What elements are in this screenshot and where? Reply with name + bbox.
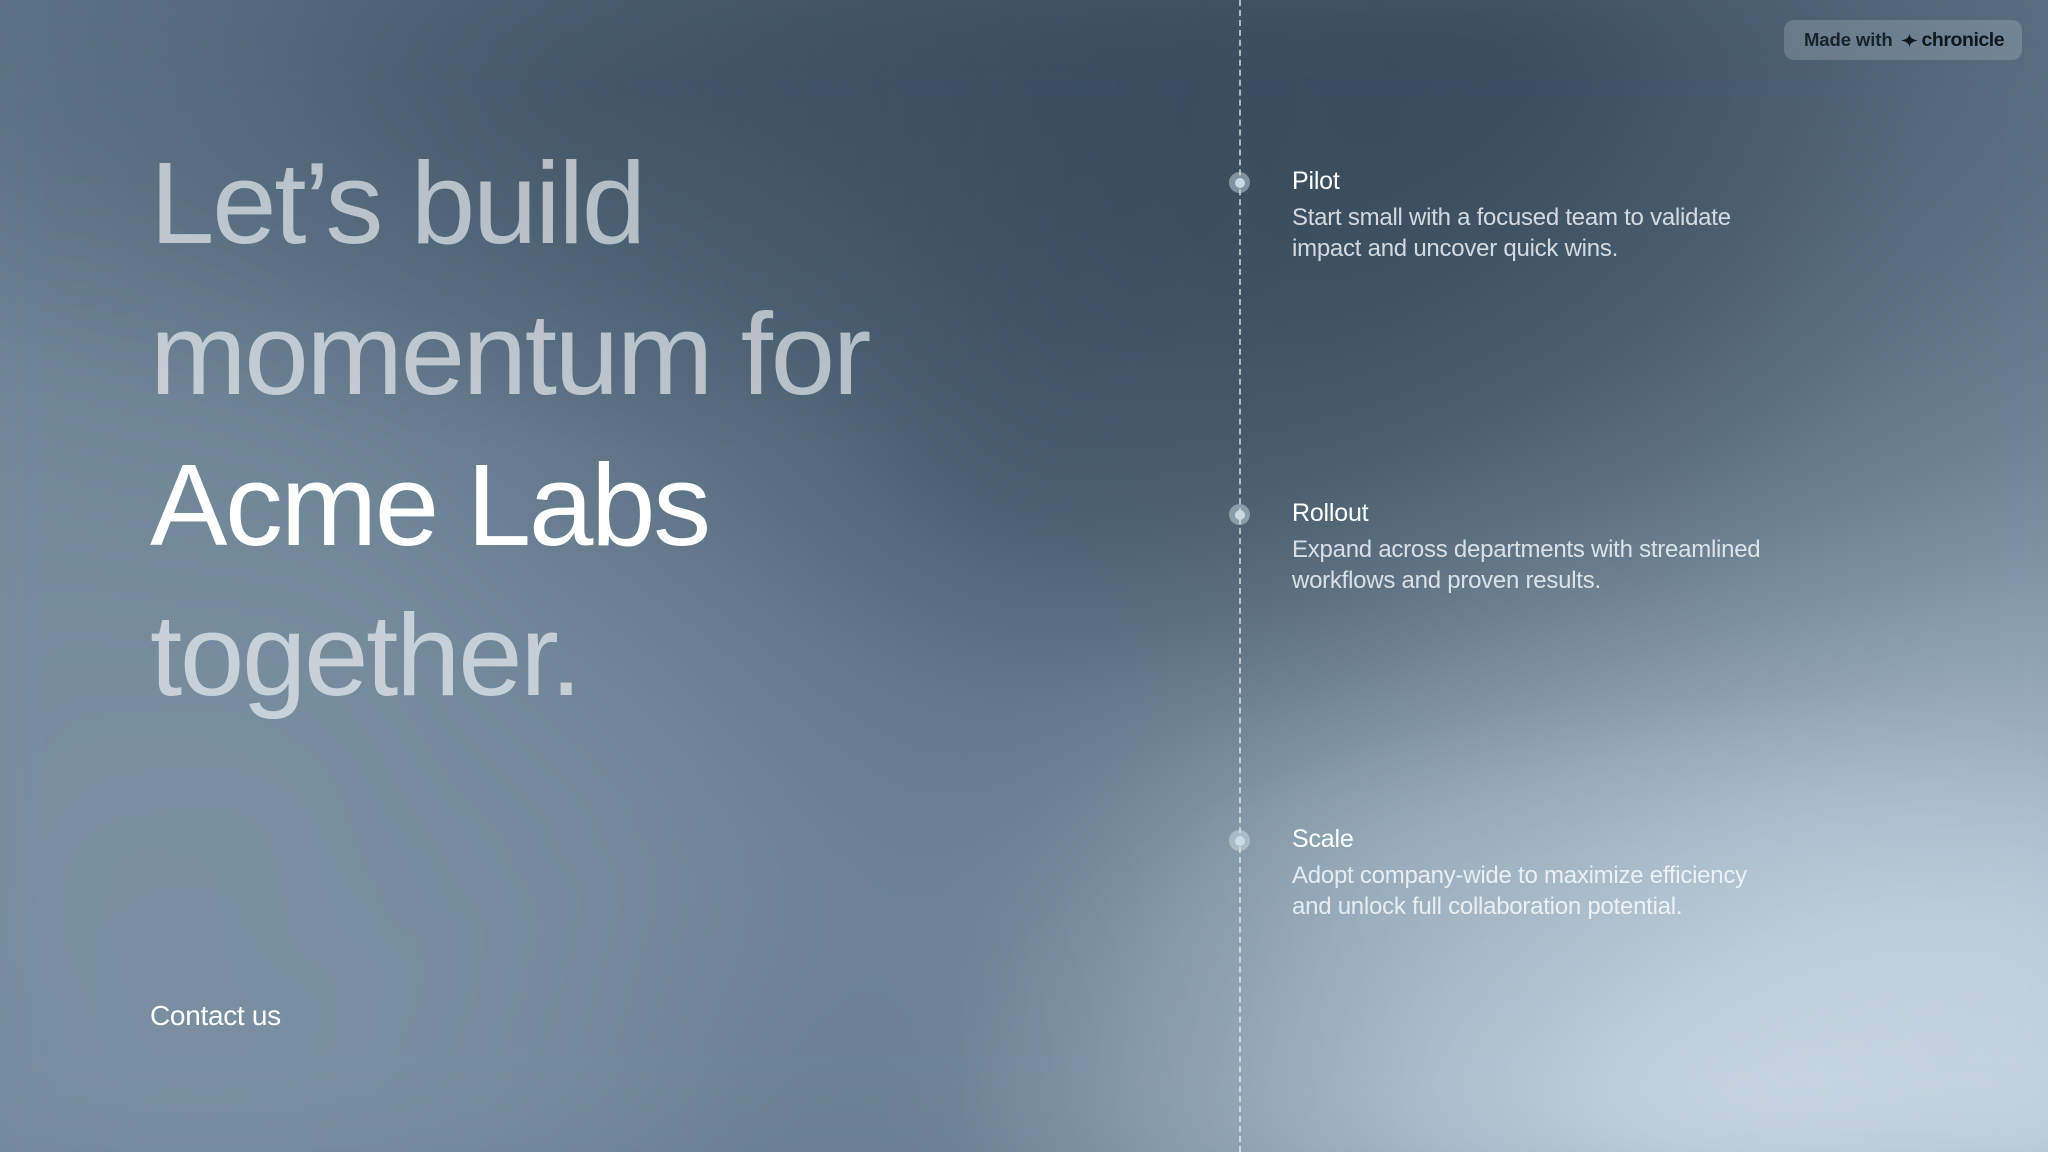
timeline-item-content: Scale Adopt company-wide to maximize eff…: [1292, 826, 1879, 923]
timeline-item-scale[interactable]: Scale Adopt company-wide to maximize eff…: [1239, 826, 1879, 923]
timeline-item-pilot[interactable]: Pilot Start small with a focused team to…: [1239, 168, 1879, 265]
page-title: Let’s build momentum for Acme Labs toget…: [150, 128, 869, 731]
timeline-item-content: Rollout Expand across departments with s…: [1292, 500, 1879, 597]
headline-line-3-emphasis: Acme Labs: [150, 430, 869, 581]
timeline-item-rollout[interactable]: Rollout Expand across departments with s…: [1239, 500, 1879, 597]
timeline-item-description: Expand across departments with streamlin…: [1292, 534, 1812, 598]
timeline-item-description: Adopt company-wide to maximize efficienc…: [1292, 860, 1772, 924]
timeline-marker-icon: [1229, 830, 1250, 851]
headline-line-2: momentum for: [150, 279, 869, 430]
headline-line-4: together.: [150, 580, 869, 731]
timeline: Pilot Start small with a focused team to…: [1239, 0, 2048, 1152]
chronicle-wordmark: chronicle: [1922, 29, 2005, 52]
timeline-item-content: Pilot Start small with a focused team to…: [1292, 168, 1879, 265]
badge-prefix-label: Made with: [1804, 29, 1893, 51]
timeline-marker-icon: [1229, 172, 1250, 193]
made-with-chronicle-badge[interactable]: Made with chronicle: [1784, 20, 2022, 60]
sparkle-icon: [1900, 31, 1919, 50]
timeline-item-title: Rollout: [1292, 500, 1879, 528]
timeline-marker-icon: [1229, 504, 1250, 525]
headline-line-1: Let’s build: [150, 128, 869, 279]
chronicle-logo: chronicle: [1900, 29, 2005, 52]
timeline-item-title: Pilot: [1292, 168, 1879, 196]
timeline-item-title: Scale: [1292, 826, 1879, 854]
timeline-item-description: Start small with a focused team to valid…: [1292, 202, 1802, 266]
hero-section: Let’s build momentum for Acme Labs toget…: [150, 0, 1150, 1152]
contact-us-link[interactable]: Contact us: [150, 1000, 281, 1032]
